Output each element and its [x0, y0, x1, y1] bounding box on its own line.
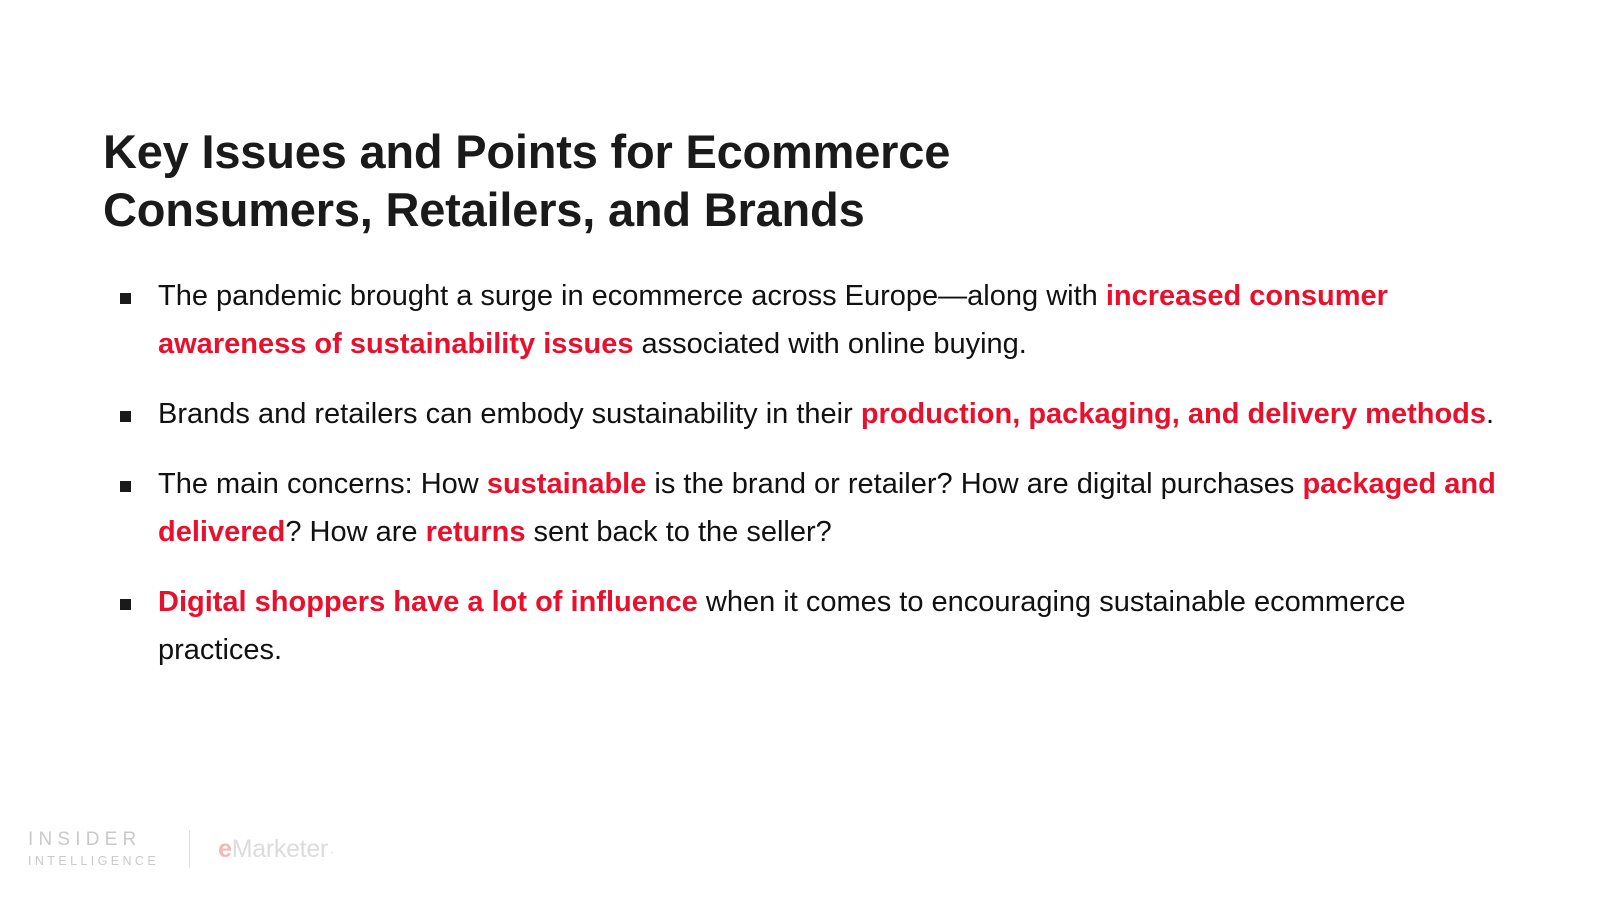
square-bullet-icon [120, 599, 131, 610]
slide-canvas: Key Issues and Points for Ecommerce Cons… [0, 0, 1600, 900]
plain-phrase: sent back to the seller? [526, 516, 832, 548]
bullet-text: The pandemic brought a surge in ecommerc… [158, 272, 1503, 368]
bullet-item: Digital shoppers have a lot of influence… [103, 578, 1503, 674]
highlighted-phrase: production, packaging, and delivery meth… [861, 398, 1486, 430]
plain-phrase: The pandemic brought a surge in ecommerc… [158, 280, 1106, 312]
plain-phrase: . [1486, 398, 1494, 430]
plain-phrase: ? How are [285, 516, 425, 548]
bullet-text: Brands and retailers can embody sustaina… [158, 390, 1503, 438]
plain-phrase: The main concerns: How [158, 468, 487, 500]
highlighted-phrase: sustainable [487, 468, 647, 500]
footer-logos: INSIDER INTELLIGENCE e Marketer · [28, 826, 334, 872]
emarketer-logo-mark: · [329, 842, 334, 862]
bullet-text: The main concerns: How sustainable is th… [158, 460, 1503, 556]
plain-phrase: is the brand or retailer? How are digita… [646, 468, 1302, 500]
highlighted-phrase: Digital shoppers have a lot of influence [158, 586, 698, 618]
footer-divider [189, 830, 190, 868]
highlighted-phrase: returns [426, 516, 526, 548]
bullet-text: Digital shoppers have a lot of influence… [158, 578, 1503, 674]
insider-logo-line-1: INSIDER [28, 830, 159, 849]
square-bullet-icon [120, 293, 131, 304]
plain-phrase: Brands and retailers can embody sustaina… [158, 398, 861, 430]
insider-intelligence-logo: INSIDER INTELLIGENCE [28, 830, 159, 868]
square-bullet-icon [120, 411, 131, 422]
emarketer-logo-e: e [218, 835, 232, 864]
emarketer-logo: e Marketer · [218, 835, 334, 864]
page-title: Key Issues and Points for Ecommerce Cons… [103, 123, 1133, 239]
square-bullet-icon [120, 481, 131, 492]
plain-phrase: associated with online buying. [633, 328, 1026, 360]
bullet-item: The main concerns: How sustainable is th… [103, 460, 1503, 556]
bullet-item: The pandemic brought a surge in ecommerc… [103, 272, 1503, 368]
bullet-item: Brands and retailers can embody sustaina… [103, 390, 1503, 438]
insider-logo-line-2: INTELLIGENCE [28, 855, 159, 868]
bullet-list: The pandemic brought a surge in ecommerc… [103, 272, 1503, 674]
emarketer-logo-word: Marketer [232, 835, 328, 864]
